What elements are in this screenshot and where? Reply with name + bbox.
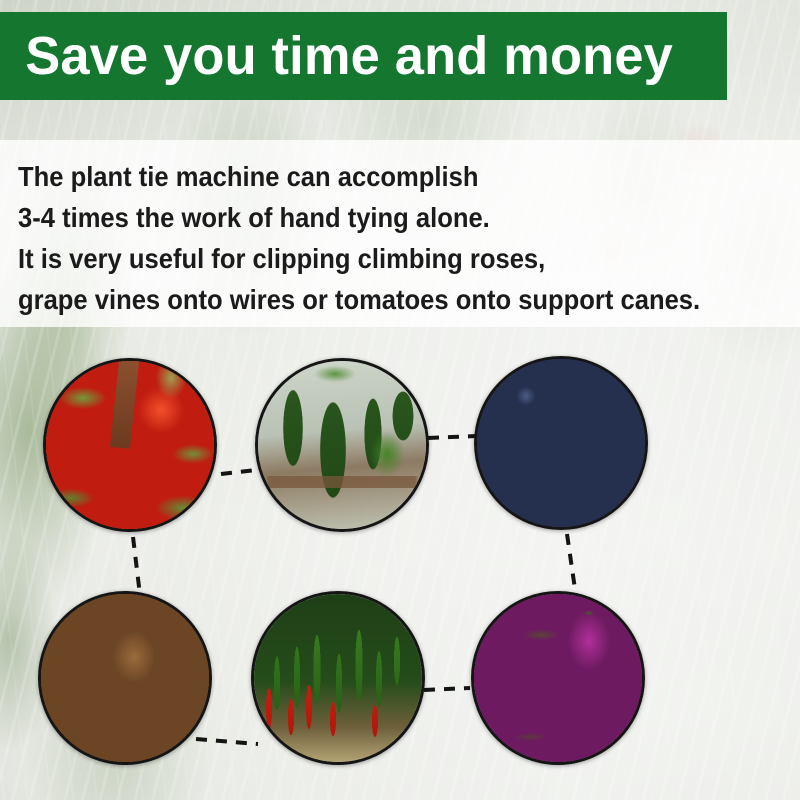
photo-circle-grape: dark purple grape clusters [474,356,648,530]
eggplant-photo [471,591,645,765]
promo-poster: Save you time and money The plant tie ma… [0,0,800,800]
photo-circle-chili: green and red chili peppers [251,591,425,765]
photo-circle-kiwi: kiwi fruits on leafy vine [38,591,212,765]
connector-chili-eggplant [424,688,470,690]
grape-photo [474,356,648,530]
tomato-photo [43,358,217,532]
connector-grape-eggplant [567,534,576,596]
kiwi-photo [38,591,212,765]
connector-tomato-kiwi [133,537,140,595]
cucumber-photo [255,358,429,532]
connector-tomato-cucumber [221,470,256,474]
photo-circle-eggplant: purple eggplants on vine [471,591,645,765]
photo-circle-tomato: tomatoes on vine with wooden stake [43,358,217,532]
chili-photo [251,591,425,765]
connector-cucumber-grape [428,436,477,438]
photo-circle-cucumber: cucumbers hanging in greenhouse [255,358,429,532]
